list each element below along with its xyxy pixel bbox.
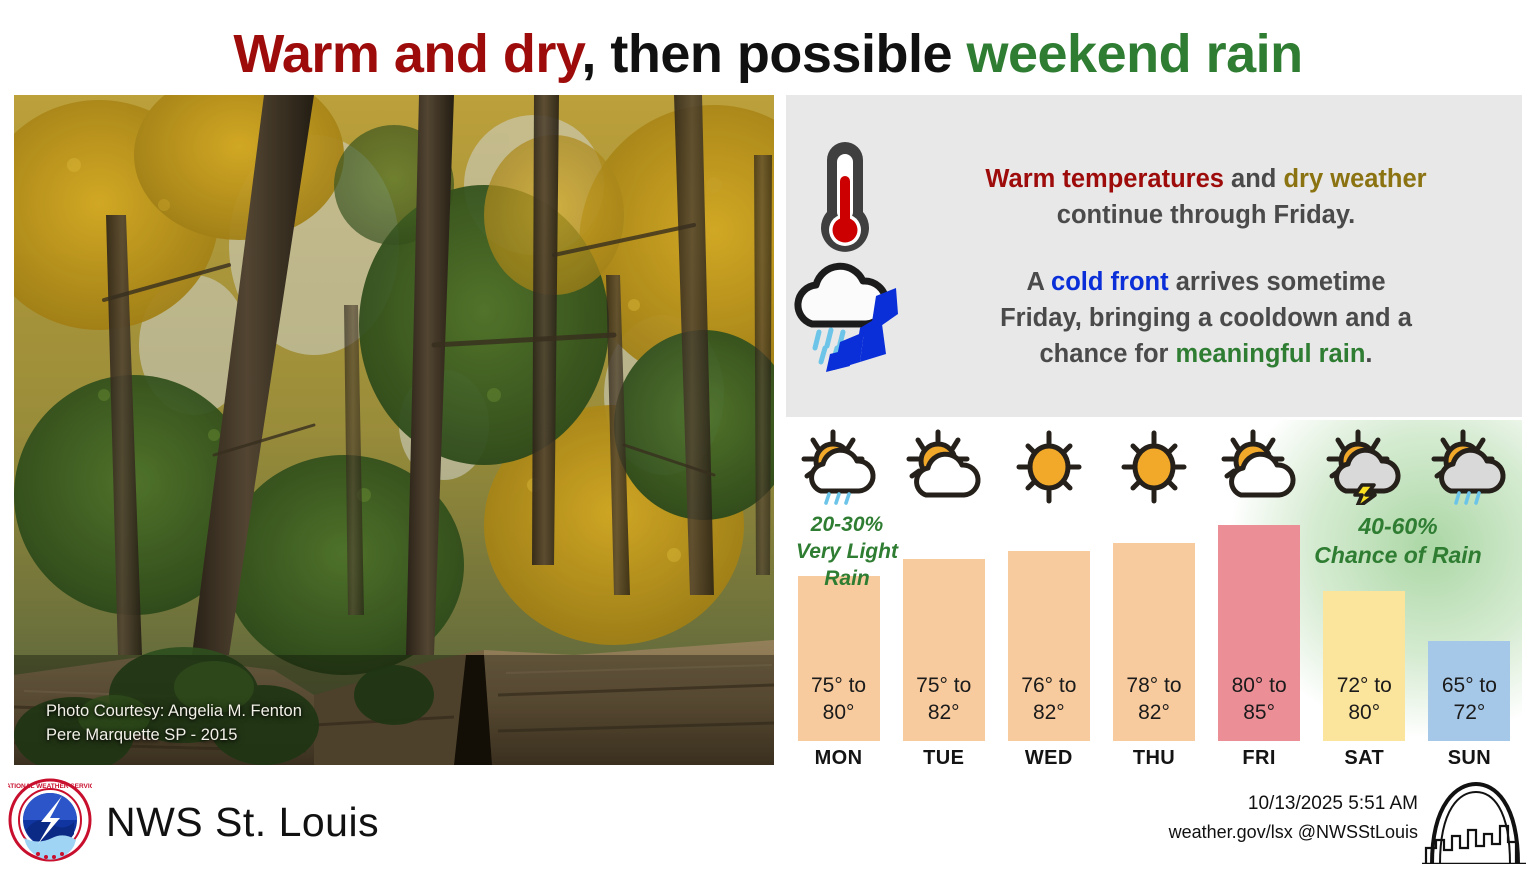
discussion-panel: Warm temperatures and dry weather contin…	[786, 95, 1522, 417]
bar-low-mon: 75° to	[811, 672, 866, 700]
rain-annotation-left-line2: Very Light	[782, 539, 912, 566]
sun-cloud-rain-icon	[793, 428, 885, 506]
photo-credit-line-1: Photo Courtesy: Angelia M. Fenton	[46, 700, 302, 723]
day-label-sat: SAT	[1312, 747, 1417, 777]
sun-icon	[1108, 428, 1200, 506]
bar-high-sat: 80°	[1348, 699, 1380, 727]
issuance-timestamp: 10/13/2025 5:51 AM	[998, 790, 1418, 819]
bar-cell-thu: 78° to 82°	[1101, 543, 1206, 741]
sun-cloud-icon	[1213, 428, 1305, 506]
discussion-row-cold-front: A cold front arrives sometime Friday, br…	[786, 262, 1522, 374]
sun-cloud-storm-icon	[1318, 428, 1410, 506]
thermometer-icon	[786, 138, 904, 256]
and-connector: and	[1224, 165, 1284, 193]
rain-annotation-right-pct: 40-60%	[1280, 512, 1516, 541]
bar-high-wed: 82°	[1033, 699, 1065, 727]
rain-annotation-left-line3: Rain	[782, 566, 912, 593]
title-part-weekend-rain: weekend rain	[966, 24, 1302, 84]
bar-low-fri: 80° to	[1232, 672, 1287, 700]
sun-icon	[1003, 428, 1095, 506]
page-title: Warm and dry, then possible weekend rain	[0, 18, 1536, 90]
sun-cloud-icon	[898, 428, 990, 506]
title-part-middle: , then possible	[581, 24, 966, 84]
forecast-day-labels: MON TUE WED THU FRI SAT SUN	[786, 747, 1522, 777]
temperature-bar: 75° to 80°	[798, 576, 880, 741]
chance-for-phrase: chance for	[1040, 340, 1176, 368]
warm-temperatures-phrase: Warm temperatures	[985, 165, 1224, 193]
rain-annotation-right: 40-60% Chance of Rain	[1280, 512, 1516, 571]
continue-through-friday-line: continue through Friday.	[904, 197, 1508, 233]
cold-front-rain-icon	[786, 262, 904, 374]
cold-front-phrase: cold front	[1051, 268, 1169, 296]
rain-annotation-left-pct: 20-30%	[782, 512, 912, 539]
discussion-text-cold-front: A cold front arrives sometime Friday, br…	[904, 264, 1522, 373]
bar-low-wed: 76° to	[1021, 672, 1076, 700]
day-label-thu: THU	[1101, 747, 1206, 777]
day-label-wed: WED	[996, 747, 1101, 777]
dry-weather-phrase: dry weather	[1283, 165, 1426, 193]
photo-credit-line-2: Pere Marquette SP - 2015	[46, 724, 302, 747]
day-label-mon: MON	[786, 747, 891, 777]
cooldown-line: Friday, bringing a cooldown and a	[904, 300, 1508, 336]
forest-photo-illustration	[14, 95, 774, 765]
sun-cloud-rain-icon	[1423, 428, 1515, 506]
photo-credit: Photo Courtesy: Angelia M. Fenton Pere M…	[46, 700, 302, 747]
day-label-sun: SUN	[1417, 747, 1522, 777]
bar-cell-wed: 76° to 82°	[996, 551, 1101, 741]
bar-high-sun: 72°	[1454, 699, 1486, 727]
discussion-text-temperature: Warm temperatures and dry weather contin…	[904, 161, 1522, 233]
title-part-warm-dry: Warm and dry	[233, 24, 581, 84]
bar-high-tue: 82°	[928, 699, 960, 727]
temperature-bar: 72° to 80°	[1323, 591, 1405, 741]
bar-cell-sun: 65° to 72°	[1417, 641, 1522, 741]
bar-low-thu: 78° to	[1126, 672, 1181, 700]
bar-low-sat: 72° to	[1337, 672, 1392, 700]
gateway-arch-icon	[1418, 778, 1530, 864]
forest-photo: Photo Courtesy: Angelia M. Fenton Pere M…	[14, 95, 774, 765]
nws-office-name: NWS St. Louis	[106, 799, 379, 846]
seven-day-forecast: 20-30% Very Light Rain 40-60% Chance of …	[786, 420, 1522, 785]
rain-annotation-right-line2: Chance of Rain	[1280, 541, 1516, 570]
bar-high-thu: 82°	[1138, 699, 1170, 727]
day-label-tue: TUE	[891, 747, 996, 777]
bar-cell-sat: 72° to 80°	[1312, 591, 1417, 741]
meaningful-rain-phrase: meaningful rain	[1176, 340, 1366, 368]
bar-low-sun: 65° to	[1442, 672, 1497, 700]
bar-low-tue: 75° to	[916, 672, 971, 700]
temperature-bar: 65° to 72°	[1428, 641, 1510, 741]
footer-metadata: 10/13/2025 5:51 AM weather.gov/lsx @NWSS…	[998, 790, 1418, 846]
bar-cell-mon: 75° to 80°	[786, 576, 891, 741]
bar-high-mon: 80°	[823, 699, 855, 727]
nws-branding: NATIONAL WEATHER SERVICE NWS St. Louis	[8, 780, 428, 864]
svg-text:NATIONAL WEATHER SERVICE: NATIONAL WEATHER SERVICE	[8, 783, 92, 790]
arrives-sometime-phrase: arrives sometime	[1169, 268, 1386, 296]
temperature-bar: 78° to 82°	[1113, 543, 1195, 741]
footer-links[interactable]: weather.gov/lsx @NWSStLouis	[998, 819, 1418, 846]
nws-seal-icon: NATIONAL WEATHER SERVICE	[8, 778, 92, 867]
discussion-row-temperature: Warm temperatures and dry weather contin…	[786, 138, 1522, 256]
rain-annotation-left: 20-30% Very Light Rain	[782, 512, 912, 593]
bar-high-fri: 85°	[1243, 699, 1275, 727]
period-phrase: .	[1365, 340, 1372, 368]
temperature-bar: 76° to 82°	[1008, 551, 1090, 741]
day-label-fri: FRI	[1207, 747, 1312, 777]
a-connector: A	[1026, 268, 1051, 296]
temperature-bar: 75° to 82°	[903, 559, 985, 741]
